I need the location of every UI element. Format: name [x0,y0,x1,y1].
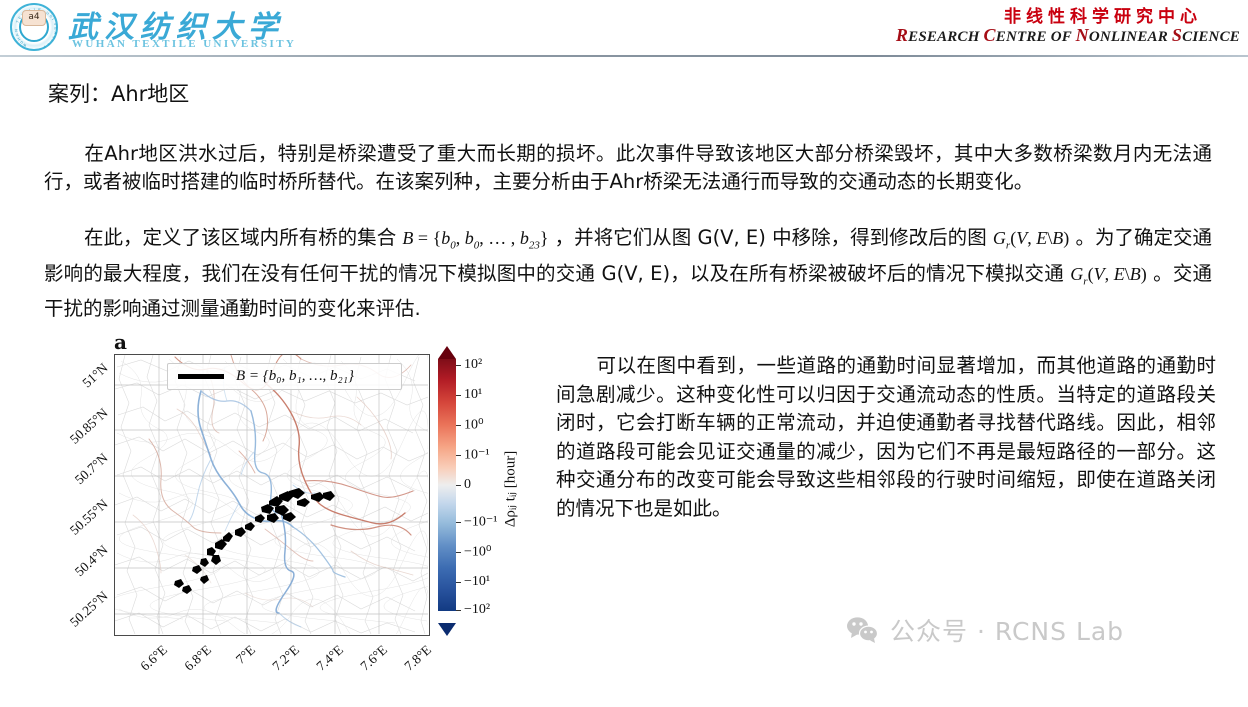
math-ellipsis: , … , [479,228,520,248]
colorbar-tick-label: 10⁻¹ [464,447,490,464]
colorbar-tick [456,365,461,366]
paragraph-method-part-b: ，并将它们从图 G(V, E) 中移除，得到修改后的图 [548,226,992,249]
math-b0: b0 [441,228,456,248]
figure-panel-a: a 51°N 50.85°N 50.7°N 50.55°N 50.4°N 50.… [104,328,534,648]
watermark: 公众号 · RCNS Lab [846,612,1124,648]
wechat-icon [846,616,880,644]
header-divider [0,55,1248,57]
colorbar-tick-label: −10² [464,602,490,618]
map-legend: B = {b₀, b₁, …, b₂₁} [167,363,402,390]
colorbar-tick [456,582,461,583]
paragraph-discussion: 可以在图中看到，一些道路的通勤时间显著增加，而其他道路的通勤时间急剧减少。这种变… [556,352,1216,523]
watermark-text: 公众号 · RCNS Lab [890,612,1124,648]
colorbar-tick [456,455,461,456]
colorbar-extend-bottom-icon [438,623,456,636]
paragraph-intro-text: 在Ahr地区洪水过后，特别是桥梁遭受了重大而长期的损坏。此次事件导致该地区大部分… [44,142,1212,193]
colorbar-tick [456,552,461,553]
colorbar-tick [456,485,461,486]
math-graph-gr-1: Gr [993,228,1010,248]
panel-label: a [114,330,127,354]
colorbar-tick [456,395,461,396]
colorbar-gradient [438,359,456,611]
colorbar-axis-label: Δρᵢⱼ tᵢⱼ [hour] [501,451,520,527]
colorbar-extend-top-icon [438,346,456,359]
map-plot-area[interactable]: B = {b₀, b₁, …, b₂₁} [114,354,430,636]
paragraph-intro: 在Ahr地区洪水过后，特别是桥梁遭受了重大而长期的损坏。此次事件导致该地区大部分… [44,140,1212,196]
colorbar-tick-label: 10⁰ [464,417,484,434]
math-comma-1: , [456,228,465,248]
colorbar-tick-label: 0 [464,477,471,493]
colorbar-tick [456,425,461,426]
university-name-en: WUHAN TEXTILE UNIVERSITY [72,38,296,50]
math-set-b: B [402,228,413,248]
colorbar-tick-label: −10⁻¹ [464,514,497,531]
colorbar-tick-label: −10¹ [464,574,490,590]
math-b23: b23 [520,228,540,248]
colorbar-tick-label: 10¹ [464,387,482,403]
colorbar-tick-label: 10² [464,357,482,373]
university-logo: WUHAN TEXTILE UNIVERSITY a4 武汉纺织大学 WUHAN… [6,2,286,52]
road-network-map [115,355,428,634]
legend-line-swatch [178,374,224,379]
paragraph-discussion-text: 可以在图中看到，一些道路的通勤时间显著增加，而其他道路的通勤时间急剧减少。这种变… [556,354,1216,520]
paragraph-method: 在此，定义了该区域内所有桥的集合 B = {b0, b0, … , b23} ，… [44,224,1212,323]
math-gr-args-2: (V, E\B) [1088,264,1147,284]
legend-label: B = {b₀, b₁, …, b₂₁} [236,368,354,385]
colorbar-tick-label: −10⁰ [464,544,492,561]
math-gr-args-1: (V, E\B) [1010,228,1069,248]
page-title: 案列：Ahr地区 [48,78,189,108]
colorbar: 10² 10¹ 10⁰ 10⁻¹ 0 −10⁻¹ −10⁰ −10¹ −10² … [436,346,532,636]
a4-badge: a4 [22,10,46,26]
math-eq: = { [413,228,441,248]
slide-header: WUHAN TEXTILE UNIVERSITY a4 武汉纺织大学 WUHAN… [0,0,1248,57]
colorbar-tick [456,522,461,523]
math-b0b: b0 [465,228,480,248]
center-name-en: RESEARCH CENTRE OF NONLINEAR SCIENCE [896,25,1240,46]
colorbar-tick [456,610,461,611]
paragraph-method-part-a: 在此，定义了该区域内所有桥的集合 [84,226,402,249]
center-name-cn: 非线性科学研究中心 [1004,2,1202,27]
math-graph-gr-2: Gr [1070,264,1087,284]
